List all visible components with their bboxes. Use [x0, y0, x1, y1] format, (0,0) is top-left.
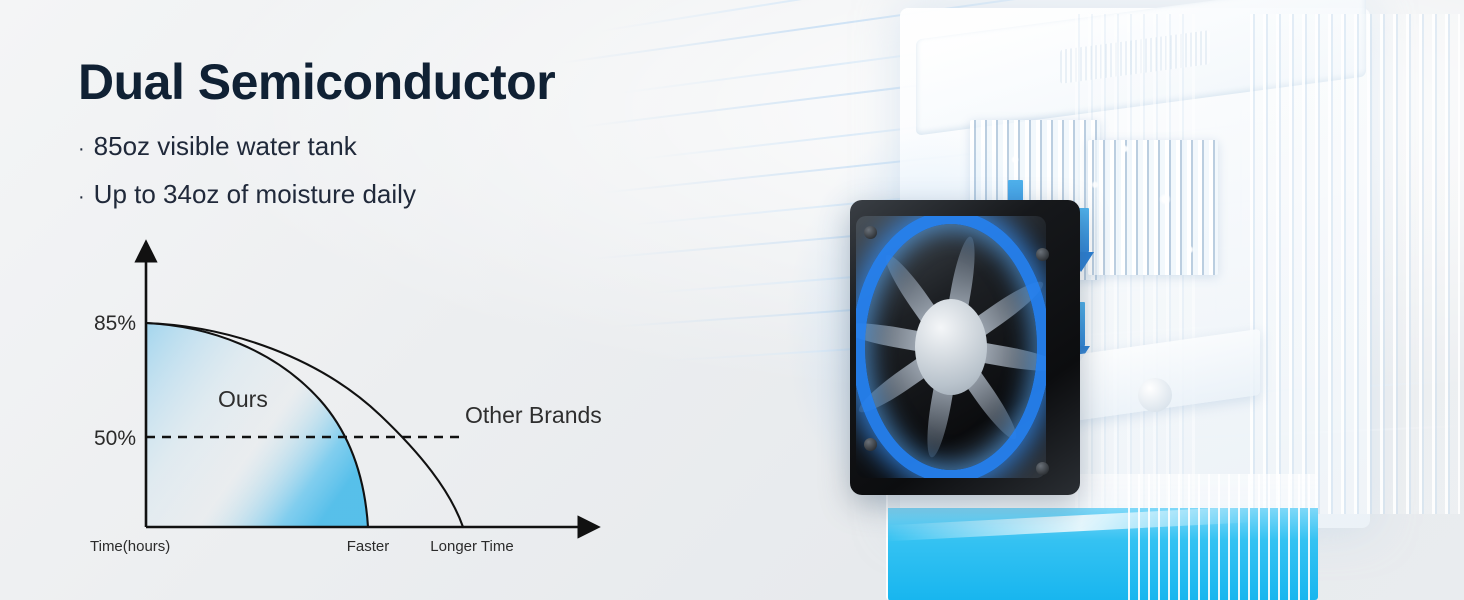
x-tick-label-faster: Faster: [347, 538, 390, 555]
tank-rib-texture: [1128, 474, 1318, 600]
transparent-rib-panel: [1250, 14, 1460, 514]
y-tick-label-50: 50%: [94, 427, 136, 450]
performance-comparison-chart: 85% 50% Time(hours) Faster Longer Time O…: [60, 240, 620, 570]
fan-hub: [915, 299, 987, 395]
product-image: [820, 0, 1464, 600]
bullet-marker-icon: ·: [78, 139, 85, 159]
product-feature-banner: Dual Semiconductor · 85oz visible water …: [0, 0, 1464, 600]
series-label-ours: Ours: [218, 386, 268, 412]
base-knob: [1138, 378, 1172, 412]
x-axis-label-time: Time(hours): [90, 538, 170, 555]
bullet-text: Up to 34oz of moisture daily: [94, 181, 416, 207]
x-tick-label-longer-time: Longer Time: [430, 538, 513, 555]
page-title: Dual Semiconductor: [78, 57, 555, 107]
fan-screw-icon: [1036, 248, 1049, 261]
semiconductor-heat-exchanger: [1088, 140, 1218, 275]
cooling-fan: [850, 200, 1080, 495]
fan-screw-icon: [864, 438, 877, 451]
bullet-text: 85oz visible water tank: [94, 133, 357, 159]
series-label-other-brands: Other Brands: [465, 402, 602, 428]
bullet-marker-icon: ·: [78, 187, 85, 207]
fan-screw-icon: [864, 226, 877, 239]
feature-bullet-list: · 85oz visible water tank · Up to 34oz o…: [78, 133, 416, 229]
fan-screw-icon: [1036, 462, 1049, 475]
y-tick-label-85: 85%: [94, 312, 136, 335]
list-item: · 85oz visible water tank: [78, 133, 416, 159]
ours-area-fill: [146, 323, 368, 527]
list-item: · Up to 34oz of moisture daily: [78, 181, 416, 207]
fan-face: [856, 216, 1046, 478]
